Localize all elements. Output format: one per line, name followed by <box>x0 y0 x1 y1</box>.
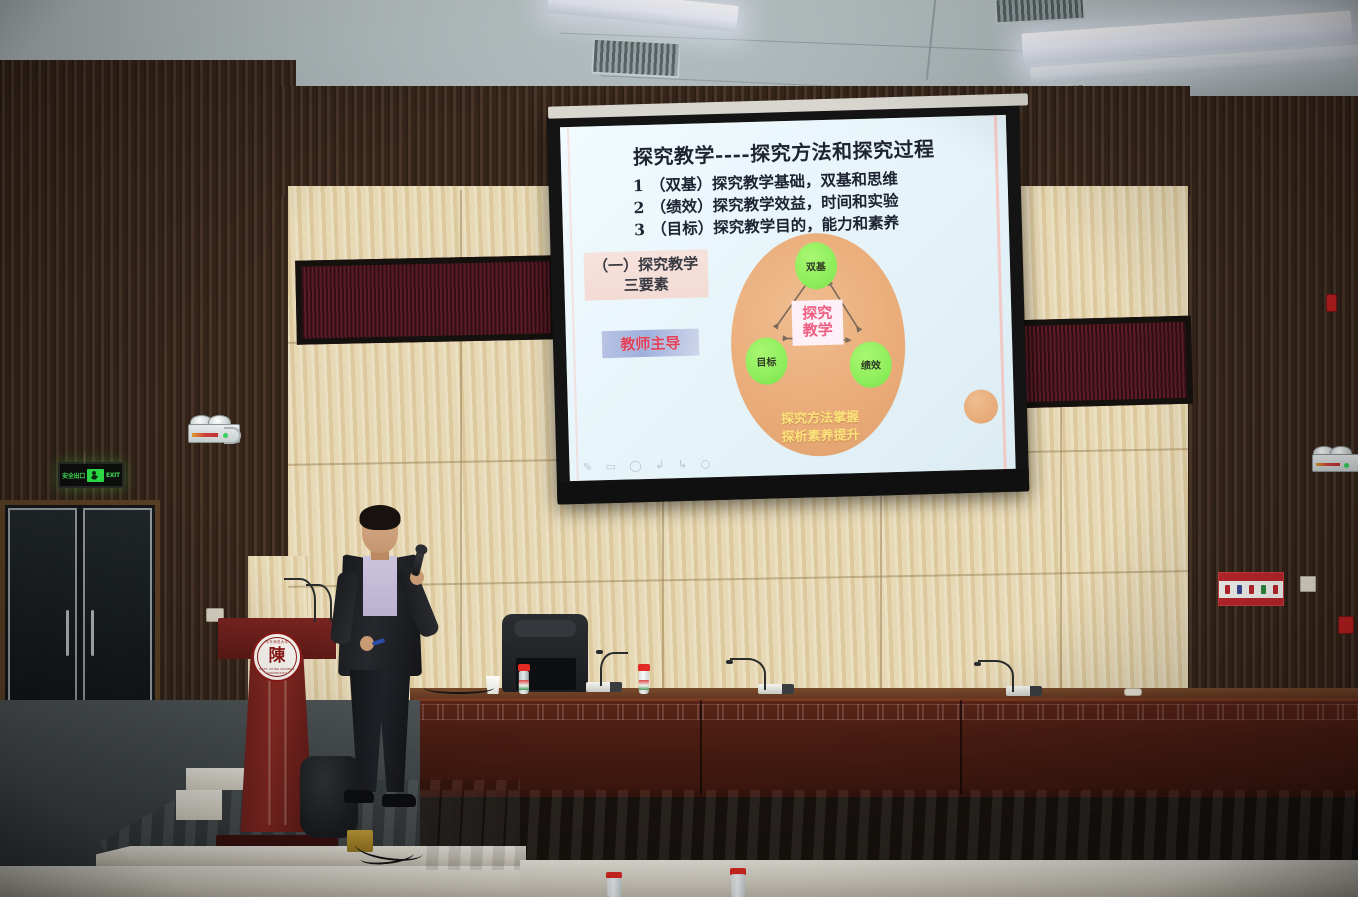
exit-sign: 安全出口 EXIT <box>58 462 124 488</box>
diagram-center-box: 探究 教学 <box>791 300 843 346</box>
emergency-light-left <box>188 415 238 443</box>
poster-header-bar <box>1219 573 1283 581</box>
bottle-label <box>519 680 529 690</box>
conference-desk <box>414 698 1358 797</box>
desk-fret-pattern <box>414 704 1358 720</box>
status-led <box>1344 463 1349 468</box>
stage-step <box>176 790 222 820</box>
power-cable <box>424 682 494 694</box>
center-label-line2: 教学 <box>794 322 841 341</box>
emergency-light-stripe <box>1316 463 1340 466</box>
gooseneck-microphone-neck <box>978 660 1014 692</box>
exit-sign-right-text: EXIT <box>106 472 120 479</box>
bullet-text: （目标）探究教学目的，能力和素养 <box>651 213 899 239</box>
stage-base-trim <box>0 866 540 897</box>
stage-front-edge-right <box>520 860 1358 897</box>
fire-alarm-upper[interactable] <box>1326 294 1337 312</box>
slide-teacher-label: 教师主导 <box>601 329 699 359</box>
microphone-head <box>974 662 981 666</box>
emblem-arc-bottom: EAST CHINA NORMAL UNIVERSITY <box>254 667 300 675</box>
presenter-hair <box>360 505 401 530</box>
presenter-shirt <box>363 556 397 616</box>
diagram-footer-text: 探究方法掌握 探析素养提升 <box>733 408 908 448</box>
call-icon <box>1273 585 1278 594</box>
desk-section-divider <box>700 700 702 794</box>
panel-seam <box>662 470 664 715</box>
desk-section-divider <box>960 700 962 794</box>
presenter <box>330 508 430 808</box>
center-label-line1: 探究 <box>794 305 841 324</box>
water-bottle[interactable] <box>730 868 746 897</box>
desk-name-card <box>1124 688 1142 696</box>
slideshow-toolbar-icons[interactable]: ✎ ▭ ◯ ↲ ↳ ○ <box>583 457 716 474</box>
diagram-node-right: 绩效 <box>849 341 892 389</box>
bullet-number: 2 <box>633 197 651 220</box>
acoustic-panel-right <box>1009 316 1193 409</box>
microphone-head <box>726 660 733 664</box>
cable-coil <box>224 427 241 443</box>
water-bottle[interactable] <box>606 872 622 897</box>
ceiling-vent <box>591 38 681 79</box>
presenter-shoe <box>382 794 416 807</box>
running-man-icon <box>87 469 104 482</box>
poster-footer-bar <box>1219 598 1283 605</box>
exit-route-icon <box>1261 585 1266 594</box>
emergency-light-stripe <box>192 433 218 437</box>
slide-section-label: （一）探究教学三要素 <box>584 249 709 301</box>
diagram-node-left: 目标 <box>745 337 788 385</box>
bullet-number: 1 <box>633 174 651 197</box>
presenter-legs <box>347 670 413 792</box>
mic-control-panel <box>782 684 794 694</box>
podium-microphone-neck <box>306 584 332 622</box>
slide-decor-dot <box>964 389 999 424</box>
projection-screen-surface: 探究教学----探究方法和探究过程 1（双基）探究教学基础，双基和思维 2（绩效… <box>560 115 1016 481</box>
alarm-icon <box>1249 585 1254 594</box>
wall-panel-dark-right <box>1178 96 1358 756</box>
microphone-head <box>596 650 603 654</box>
stage-floor-right <box>420 790 1358 870</box>
extinguisher-icon <box>1225 585 1230 594</box>
university-emblem: 华东师范大学 陳 EAST CHINA NORMAL UNIVERSITY <box>252 632 302 682</box>
poster-icon-row <box>1219 581 1283 598</box>
acoustic-panel-left <box>295 255 557 344</box>
bottle-label <box>639 680 649 690</box>
slide-title: 探究教学----探究方法和探究过程 <box>560 131 1007 172</box>
exit-sign-hanger <box>84 452 85 464</box>
diagram-node-top: 双基 <box>794 242 837 290</box>
footer-line2: 探析素养提升 <box>734 425 908 447</box>
mic-control-panel <box>1030 686 1042 696</box>
bullet-number: 3 <box>634 219 652 242</box>
fire-alarm-lower[interactable] <box>1338 616 1354 634</box>
slide-bullet-list: 1（双基）探究教学基础，双基和思维 2（绩效）探究教学效益，时间和实验 3（目标… <box>633 167 900 242</box>
diagram-ellipse: 双基 目标 绩效 探究 教学 探究方法掌握 探析素养提升 <box>728 231 908 459</box>
door-handle[interactable] <box>66 610 69 656</box>
hydrant-icon <box>1237 585 1242 594</box>
door-handle[interactable] <box>91 610 94 656</box>
slide-border-right <box>994 115 1007 469</box>
emblem-arc-top: 华东师范大学 <box>254 639 300 644</box>
wall-device <box>1300 576 1316 592</box>
presenter-shoe <box>344 790 374 803</box>
water-bottle[interactable] <box>518 664 530 694</box>
slide-border-left <box>567 127 579 481</box>
chair-headrest <box>514 620 576 637</box>
gooseneck-microphone-neck <box>600 652 628 686</box>
bottle-body <box>731 874 745 897</box>
exit-sign-left-text: 安全出口 <box>62 471 85 480</box>
bottle-body <box>607 878 621 897</box>
projection-screen-frame: 探究教学----探究方法和探究过程 1（双基）探究教学基础，双基和思维 2（绩效… <box>547 103 1030 504</box>
emergency-light-right <box>1312 446 1358 472</box>
presentation-slide: 探究教学----探究方法和探究过程 1（双基）探究教学基础，双基和思维 2（绩效… <box>560 115 1016 481</box>
gooseneck-microphone-neck <box>730 658 766 690</box>
water-bottle[interactable] <box>638 664 650 694</box>
lecture-hall-photo: 探究教学----探究方法和探究过程 1（双基）探究教学基础，双基和思维 2（绩效… <box>0 0 1358 897</box>
fire-safety-poster <box>1218 572 1284 606</box>
